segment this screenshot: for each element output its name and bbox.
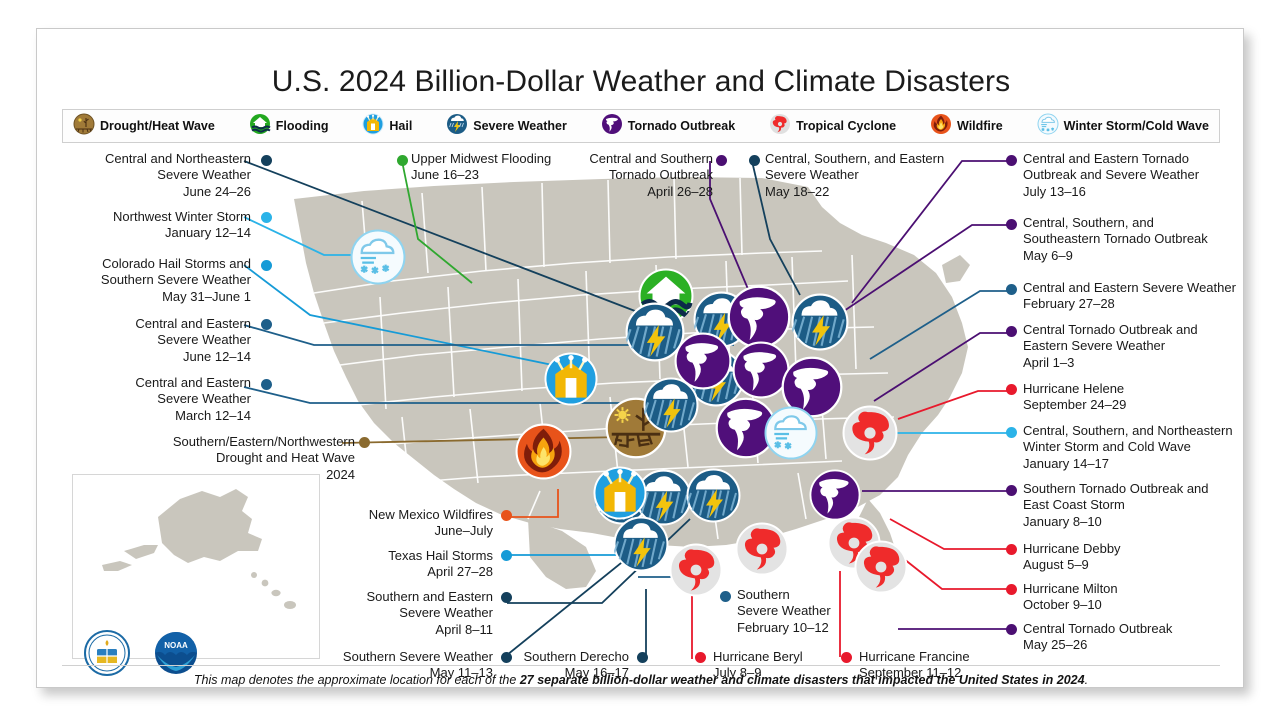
map-icon-tornado-2[interactable] bbox=[674, 332, 732, 390]
dot-event-13[interactable] bbox=[720, 591, 731, 602]
map-icon-cyclone-helene[interactable] bbox=[842, 405, 898, 461]
label-line: Central Tornado Outbreak bbox=[1023, 621, 1203, 637]
label-line: Southern Severe Weather bbox=[79, 272, 251, 288]
label-line: April 27–28 bbox=[337, 564, 493, 580]
label-line: Upper Midwest Flooding bbox=[411, 151, 571, 167]
label-event-2[interactable]: Northwest Winter Storm January 12–14 bbox=[79, 209, 251, 242]
legend-item-drought[interactable]: Drought/Heat Wave bbox=[73, 113, 215, 140]
legend-label-wildfire: Wildfire bbox=[957, 119, 1003, 133]
map-icon-cyclone-milton[interactable] bbox=[854, 540, 908, 594]
label-line: Central and Southern bbox=[565, 151, 713, 167]
dot-event-14[interactable] bbox=[841, 652, 852, 663]
map-icon-hail-colorado[interactable] bbox=[544, 352, 598, 406]
label-event-16[interactable]: Central and Southern Tornado Outbreak Ap… bbox=[565, 151, 713, 200]
tornado-icon bbox=[601, 113, 623, 140]
label-line: Eastern Severe Weather bbox=[1023, 338, 1229, 354]
label-event-6[interactable]: Southern/Eastern/Northwestern Drought an… bbox=[133, 434, 355, 483]
label-event-19[interactable]: Central, Southern, and Southeastern Torn… bbox=[1023, 215, 1239, 264]
footer-note: This map denotes the approximate locatio… bbox=[62, 665, 1220, 687]
dot-event-2[interactable] bbox=[261, 212, 272, 223]
dot-event-1[interactable] bbox=[261, 155, 272, 166]
label-line: Southern/Eastern/Northwestern bbox=[133, 434, 355, 450]
dot-event-22[interactable] bbox=[1006, 384, 1017, 395]
label-line: Hurricane Helene bbox=[1023, 381, 1203, 397]
label-line: Tornado Outbreak bbox=[565, 167, 713, 183]
label-line: Central and Eastern bbox=[79, 375, 251, 391]
label-line: January 12–14 bbox=[79, 225, 251, 241]
legend-label-drought: Drought/Heat Wave bbox=[100, 119, 215, 133]
label-line: Severe Weather bbox=[79, 167, 251, 183]
dot-event-27[interactable] bbox=[1006, 624, 1017, 635]
label-event-24[interactable]: Southern Tornado Outbreak and East Coast… bbox=[1023, 481, 1223, 530]
legend-item-winter-storm[interactable]: Winter Storm/Cold Wave bbox=[1037, 113, 1209, 140]
map-icon-wildfire[interactable] bbox=[515, 423, 572, 480]
label-line: September 24–29 bbox=[1023, 397, 1203, 413]
label-line: Severe Weather bbox=[333, 605, 493, 621]
label-line: Southern Derecho bbox=[507, 649, 629, 665]
map-icon-cyclone-francine[interactable] bbox=[735, 522, 789, 576]
label-line: Colorado Hail Storms and bbox=[79, 256, 251, 272]
map-icon-tornado-1[interactable] bbox=[727, 285, 791, 349]
label-line: January 8–10 bbox=[1023, 514, 1223, 530]
label-line: Hurricane Milton bbox=[1023, 581, 1183, 597]
label-event-15[interactable]: Upper Midwest Flooding June 16–23 bbox=[411, 151, 571, 184]
label-line: 2024 bbox=[133, 467, 355, 483]
footer-post: . bbox=[1085, 673, 1088, 687]
dot-event-25[interactable] bbox=[1006, 544, 1017, 555]
dot-event-5[interactable] bbox=[261, 379, 272, 390]
legend-label-severe-weather: Severe Weather bbox=[473, 119, 567, 133]
legend-label-flooding: Flooding bbox=[276, 119, 329, 133]
dot-event-16[interactable] bbox=[716, 155, 727, 166]
label-line: Southern bbox=[737, 587, 887, 603]
footer-pre: This map denotes the approximate locatio… bbox=[194, 673, 520, 687]
label-event-26[interactable]: Hurricane Milton October 9–10 bbox=[1023, 581, 1183, 614]
leader-25 bbox=[890, 519, 1014, 549]
label-line: Hurricane Debby bbox=[1023, 541, 1183, 557]
label-line: Central, Southern, and bbox=[1023, 215, 1239, 231]
page-title: U.S. 2024 Billion-Dollar Weather and Cli… bbox=[37, 65, 1245, 99]
label-line: Southern and Eastern bbox=[333, 589, 493, 605]
dot-event-17[interactable] bbox=[749, 155, 760, 166]
label-line: February 10–12 bbox=[737, 620, 887, 636]
label-line: June 12–14 bbox=[79, 349, 251, 365]
legend-label-hail: Hail bbox=[389, 119, 412, 133]
label-line: April 1–3 bbox=[1023, 355, 1229, 371]
label-line: August 5–9 bbox=[1023, 557, 1183, 573]
label-event-8[interactable]: Texas Hail Storms April 27–28 bbox=[337, 548, 493, 581]
label-event-25[interactable]: Hurricane Debby August 5–9 bbox=[1023, 541, 1183, 574]
label-line: May 25–26 bbox=[1023, 637, 1203, 653]
label-line: Winter Storm and Cold Wave bbox=[1023, 439, 1247, 455]
label-line: October 9–10 bbox=[1023, 597, 1183, 613]
label-line: Central, Southern, and Northeastern bbox=[1023, 423, 1247, 439]
map-icon-severe-weather-9[interactable] bbox=[613, 516, 669, 572]
label-line: June 16–23 bbox=[411, 167, 571, 183]
label-line: June 24–26 bbox=[79, 184, 251, 200]
footer-count: 27 separate billion-dollar weather and c… bbox=[520, 673, 1085, 687]
label-line: Severe Weather bbox=[765, 167, 971, 183]
label-event-20[interactable]: Central and Eastern Severe Weather Febru… bbox=[1023, 280, 1253, 313]
label-line: Texas Hail Storms bbox=[337, 548, 493, 564]
legend-item-hail[interactable]: Hail bbox=[362, 113, 412, 140]
dot-event-4[interactable] bbox=[261, 319, 272, 330]
legend: Drought/Heat Wave Flooding bbox=[62, 109, 1220, 143]
map-icon-winter-storm-east[interactable] bbox=[764, 406, 818, 460]
dot-event-18[interactable] bbox=[1006, 155, 1017, 166]
label-event-5[interactable]: Central and Eastern Severe Weather March… bbox=[79, 375, 251, 424]
label-line: East Coast Storm bbox=[1023, 497, 1223, 513]
flooding-icon bbox=[249, 113, 271, 140]
label-line: July 13–16 bbox=[1023, 184, 1229, 200]
map-icon-hail-south[interactable] bbox=[593, 466, 647, 520]
label-event-7[interactable]: New Mexico Wildfires June–July bbox=[337, 507, 493, 540]
label-line: Drought and Heat Wave bbox=[133, 450, 355, 466]
map-icon-severe-weather-3[interactable] bbox=[791, 293, 849, 351]
dot-event-7[interactable] bbox=[501, 510, 512, 521]
label-line: Central and Northeastern bbox=[79, 151, 251, 167]
label-event-4[interactable]: Central and Eastern Severe Weather June … bbox=[79, 316, 251, 365]
label-line: Northwest Winter Storm bbox=[79, 209, 251, 225]
label-line: Southern Severe Weather bbox=[313, 649, 493, 665]
svg-text:NOAA: NOAA bbox=[164, 641, 188, 650]
dot-event-9[interactable] bbox=[501, 592, 512, 603]
label-line: Severe Weather bbox=[79, 332, 251, 348]
label-line: May 6–9 bbox=[1023, 248, 1239, 264]
label-line: Central and Eastern bbox=[79, 316, 251, 332]
label-line: Hurricane Francine bbox=[859, 649, 1029, 665]
dot-event-21[interactable] bbox=[1006, 326, 1017, 337]
legend-label-cyclone: Tropical Cyclone bbox=[796, 119, 896, 133]
legend-item-tornado[interactable]: Tornado Outbreak bbox=[601, 113, 735, 140]
dot-event-11[interactable] bbox=[637, 652, 648, 663]
map-icon-tornado-6[interactable] bbox=[809, 469, 861, 521]
map-icon-cyclone-beryl[interactable] bbox=[669, 543, 723, 597]
label-line: Central, Southern, and Eastern bbox=[765, 151, 971, 167]
dot-event-12[interactable] bbox=[695, 652, 706, 663]
dot-event-19[interactable] bbox=[1006, 219, 1017, 230]
label-line: Southeastern Tornado Outbreak bbox=[1023, 231, 1239, 247]
label-line: Severe Weather bbox=[737, 603, 887, 619]
legend-item-cyclone[interactable]: Tropical Cyclone bbox=[769, 113, 896, 140]
legend-item-severe-weather[interactable]: Severe Weather bbox=[446, 113, 567, 140]
label-event-1[interactable]: Central and Northeastern Severe Weather … bbox=[79, 151, 251, 200]
legend-item-wildfire[interactable]: Wildfire bbox=[930, 113, 1003, 140]
label-line: January 14–17 bbox=[1023, 456, 1247, 472]
label-event-13[interactable]: Southern Severe Weather February 10–12 bbox=[737, 587, 887, 636]
hail-icon bbox=[362, 113, 384, 140]
label-line: March 12–14 bbox=[79, 408, 251, 424]
legend-label-tornado: Tornado Outbreak bbox=[628, 119, 735, 133]
label-event-22[interactable]: Hurricane Helene September 24–29 bbox=[1023, 381, 1203, 414]
label-line: Central and Eastern Tornado bbox=[1023, 151, 1229, 167]
legend-label-winter-storm: Winter Storm/Cold Wave bbox=[1064, 119, 1209, 133]
leader-26 bbox=[904, 559, 1014, 589]
severe-weather-icon bbox=[446, 113, 468, 140]
label-line: New Mexico Wildfires bbox=[337, 507, 493, 523]
winter-storm-icon bbox=[1037, 113, 1059, 140]
label-line: April 26–28 bbox=[565, 184, 713, 200]
label-event-18[interactable]: Central and Eastern Tornado Outbreak and… bbox=[1023, 151, 1229, 200]
dot-event-24[interactable] bbox=[1006, 485, 1017, 496]
drought-icon bbox=[73, 113, 95, 140]
label-line: February 27–28 bbox=[1023, 296, 1253, 312]
label-line: Outbreak and Severe Weather bbox=[1023, 167, 1229, 183]
label-line: April 8–11 bbox=[333, 622, 493, 638]
label-line: Central Tornado Outbreak and bbox=[1023, 322, 1229, 338]
label-event-21[interactable]: Central Tornado Outbreak and Eastern Sev… bbox=[1023, 322, 1229, 371]
label-event-27[interactable]: Central Tornado Outbreak May 25–26 bbox=[1023, 621, 1203, 654]
map-icon-severe-weather-8[interactable] bbox=[686, 468, 741, 523]
screenshot-root: U.S. 2024 Billion-Dollar Weather and Cli… bbox=[0, 0, 1280, 720]
wildfire-icon bbox=[930, 113, 952, 140]
label-event-17[interactable]: Central, Southern, and Eastern Severe We… bbox=[765, 151, 971, 200]
dot-event-15[interactable] bbox=[397, 155, 408, 166]
label-line: June–July bbox=[337, 523, 493, 539]
dot-event-3[interactable] bbox=[261, 260, 272, 271]
label-line: Central and Eastern Severe Weather bbox=[1023, 280, 1253, 296]
dot-event-8[interactable] bbox=[501, 550, 512, 561]
legend-item-flooding[interactable]: Flooding bbox=[249, 113, 329, 140]
dot-event-26[interactable] bbox=[1006, 584, 1017, 595]
dot-event-23[interactable] bbox=[1006, 427, 1017, 438]
dot-event-20[interactable] bbox=[1006, 284, 1017, 295]
map-card: U.S. 2024 Billion-Dollar Weather and Cli… bbox=[36, 28, 1244, 688]
label-line: Southern Tornado Outbreak and bbox=[1023, 481, 1223, 497]
label-event-23[interactable]: Central, Southern, and Northeastern Wint… bbox=[1023, 423, 1247, 472]
map-icon-winter-storm-nw[interactable] bbox=[350, 229, 406, 285]
dot-event-6[interactable] bbox=[359, 437, 370, 448]
label-line: May 18–22 bbox=[765, 184, 971, 200]
label-line: May 31–June 1 bbox=[79, 289, 251, 305]
cyclone-icon bbox=[769, 113, 791, 140]
label-event-3[interactable]: Colorado Hail Storms and Southern Severe… bbox=[79, 256, 251, 305]
label-event-9[interactable]: Southern and Eastern Severe Weather Apri… bbox=[333, 589, 493, 638]
label-line: Severe Weather bbox=[79, 391, 251, 407]
